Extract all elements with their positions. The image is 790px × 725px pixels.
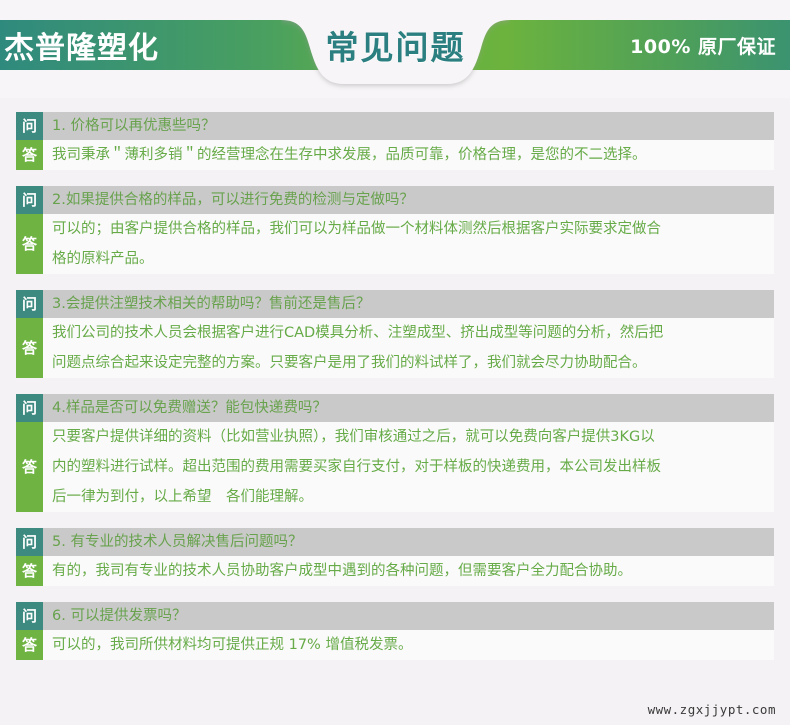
faq-question-row: 问 2.如果提供合格的样品，可以进行免费的检测与定做吗？ (16, 186, 774, 214)
answer-line: 有的，我司有专业的技术人员协助客户成型中遇到的各种问题，但需要客户全力配合协助。 (52, 556, 770, 586)
answer-badge: 答 (16, 630, 43, 660)
faq-item: 问 4.样品是否可以免费赠送？能包快递费吗？ 答 只要客户提供详细的资料（比如营… (16, 394, 774, 512)
faq-item: 问 1. 价格可以再优惠些吗？ 答 我司秉承＂薄利多销＂的经营理念在生存中求发展… (16, 112, 774, 170)
question-text: 6. 可以提供发票吗？ (43, 602, 774, 630)
faq-item: 问 5. 有专业的技术人员解决售后问题吗？ 答 有的，我司有专业的技术人员协助客… (16, 528, 774, 586)
answer-line: 我们公司的技术人员会根据客户进行CAD模具分析、注塑成型、挤出成型等问题的分析，… (52, 318, 770, 348)
faq-answer-row: 答 可以的；由客户提供合格的样品，我们可以为样品做一个材料体测然后根据客户实际要… (16, 214, 774, 274)
faq-answer-row: 答 我司秉承＂薄利多销＂的经营理念在生存中求发展，品质可靠，价格合理，是您的不二… (16, 140, 774, 170)
answer-line: 后一律为到付，以上希望 各们能理解。 (52, 482, 770, 512)
page-header: 杰普隆塑化 常见问题 100% 原厂保证 (0, 0, 790, 98)
question-badge: 问 (16, 394, 43, 422)
faq-answer-row: 答 只要客户提供详细的资料（比如营业执照），我们审核通过之后，就可以免费向客户提… (16, 422, 774, 512)
answer-line: 只要客户提供详细的资料（比如营业执照），我们审核通过之后，就可以免费向客户提供3… (52, 422, 770, 452)
answer-text: 可以的，我司所供材料均可提供正规 17% 增值税发票。 (43, 630, 774, 660)
answer-badge: 答 (16, 214, 43, 274)
header-tab-title: 常见问题 (281, 0, 510, 84)
answer-text: 我司秉承＂薄利多销＂的经营理念在生存中求发展，品质可靠，价格合理，是您的不二选择… (43, 140, 774, 170)
answer-text: 可以的；由客户提供合格的样品，我们可以为样品做一个材料体测然后根据客户实际要求定… (43, 214, 774, 274)
faq-answer-row: 答 可以的，我司所供材料均可提供正规 17% 增值税发票。 (16, 630, 774, 660)
faq-item: 问 6. 可以提供发票吗？ 答 可以的，我司所供材料均可提供正规 17% 增值税… (16, 602, 774, 660)
faq-item: 问 3.会提供注塑技术相关的帮助吗？售前还是售后？ 答 我们公司的技术人员会根据… (16, 290, 774, 378)
question-badge: 问 (16, 290, 43, 318)
answer-line: 格的原料产品。 (52, 244, 770, 274)
answer-badge: 答 (16, 422, 43, 512)
answer-line: 可以的；由客户提供合格的样品，我们可以为样品做一个材料体测然后根据客户实际要求定… (52, 214, 770, 244)
question-text: 3.会提供注塑技术相关的帮助吗？售前还是售后？ (43, 290, 774, 318)
faq-question-row: 问 4.样品是否可以免费赠送？能包快递费吗？ (16, 394, 774, 422)
answer-line: 我司秉承＂薄利多销＂的经营理念在生存中求发展，品质可靠，价格合理，是您的不二选择… (52, 140, 770, 170)
answer-badge: 答 (16, 140, 43, 170)
question-text: 1. 价格可以再优惠些吗？ (43, 112, 774, 140)
footer-website: www.zgxjjypt.com (648, 702, 776, 717)
question-badge: 问 (16, 602, 43, 630)
answer-text: 有的，我司有专业的技术人员协助客户成型中遇到的各种问题，但需要客户全力配合协助。 (43, 556, 774, 586)
question-badge: 问 (16, 186, 43, 214)
question-badge: 问 (16, 112, 43, 140)
answer-text: 我们公司的技术人员会根据客户进行CAD模具分析、注塑成型、挤出成型等问题的分析，… (43, 318, 774, 378)
faq-answer-row: 答 有的，我司有专业的技术人员协助客户成型中遇到的各种问题，但需要客户全力配合协… (16, 556, 774, 586)
faq-list: 问 1. 价格可以再优惠些吗？ 答 我司秉承＂薄利多销＂的经营理念在生存中求发展… (0, 98, 790, 660)
faq-question-row: 问 3.会提供注塑技术相关的帮助吗？售前还是售后？ (16, 290, 774, 318)
answer-badge: 答 (16, 318, 43, 378)
question-text: 4.样品是否可以免费赠送？能包快递费吗？ (43, 394, 774, 422)
answer-badge: 答 (16, 556, 43, 586)
answer-line: 问题点综合起来设定完整的方案。只要客户是用了我们的料试样了，我们就会尽力协助配合… (52, 348, 770, 378)
faq-item: 问 2.如果提供合格的样品，可以进行免费的检测与定做吗？ 答 可以的；由客户提供… (16, 186, 774, 274)
answer-line: 可以的，我司所供材料均可提供正规 17% 增值税发票。 (52, 630, 770, 660)
faq-question-row: 问 5. 有专业的技术人员解决售后问题吗？ (16, 528, 774, 556)
faq-question-row: 问 1. 价格可以再优惠些吗？ (16, 112, 774, 140)
guarantee-text: 100% 原厂保证 (630, 20, 776, 70)
brand-title: 杰普隆塑化 (4, 20, 159, 70)
answer-line: 内的塑料进行试样。超出范围的费用需要买家自行支付，对于样板的快递费用，本公司发出… (52, 452, 770, 482)
question-text: 2.如果提供合格的样品，可以进行免费的检测与定做吗？ (43, 186, 774, 214)
question-badge: 问 (16, 528, 43, 556)
faq-question-row: 问 6. 可以提供发票吗？ (16, 602, 774, 630)
answer-text: 只要客户提供详细的资料（比如营业执照），我们审核通过之后，就可以免费向客户提供3… (43, 422, 774, 512)
header-center-tab: 常见问题 (281, 0, 510, 98)
faq-answer-row: 答 我们公司的技术人员会根据客户进行CAD模具分析、注塑成型、挤出成型等问题的分… (16, 318, 774, 378)
question-text: 5. 有专业的技术人员解决售后问题吗？ (43, 528, 774, 556)
